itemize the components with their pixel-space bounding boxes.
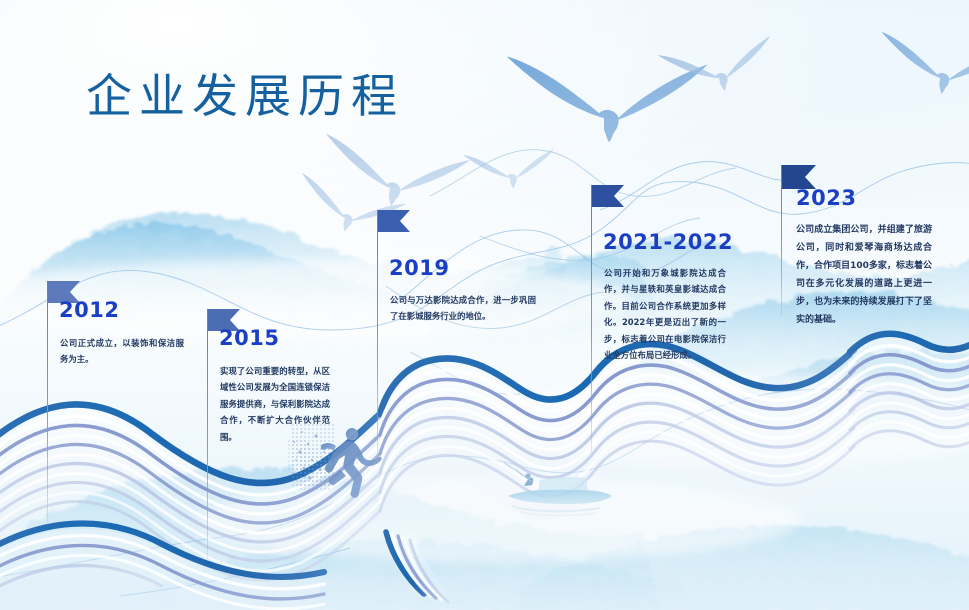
milestone-2012[interactable]: 2012 公司正式成立，以装饰和保洁服务为主。 [47,281,217,531]
mountain-bottom-right [520,526,969,610]
milestone-year: 2012 [59,298,119,322]
milestone-year: 2015 [219,326,279,350]
milestone-2019[interactable]: 2019 公司与万达影院达成合作，进一步巩固了在影城服务行业的地位。 [377,210,557,470]
page-title: 企业发展历程 [86,60,404,126]
bird-far-right [876,32,969,101]
milestone-description: 公司开始和万象城影院达成合作，并与星轶和英皇影城达成合作。目前公司合作系统更加多… [604,265,726,363]
boat-icon [504,462,612,516]
poster-canvas: 企业发展历程 [0,0,969,610]
bird-mid-left [317,134,471,216]
flag-icon [592,185,626,211]
flagpole [377,210,378,464]
milestone-description: 公司与万达影院达成合作，进一步巩固了在影城服务行业的地位。 [390,292,536,325]
milestone-year: 2019 [389,256,449,280]
milestone-description: 公司成立集团公司，并组建了旅游公司，同时和爱琴海商场达成合作，合作项目100多家… [796,221,932,329]
milestone-2023[interactable]: 2023 公司成立集团公司，并组建了旅游公司，同时和爱琴海商场达成合作，合作项目… [781,165,969,415]
flag-icon [378,210,412,236]
milestone-2015[interactable]: 2015 实现了公司重要的转型，从区域性公司发展为全国连锁保洁服务提供商，与保利… [207,309,377,559]
milestone-description: 实现了公司重要的转型，从区域性公司发展为全国连锁保洁服务提供商，与保利影院达成合… [220,363,330,445]
flagpole [47,281,48,525]
flagpole [207,309,208,559]
flagpole [591,185,592,453]
milestone-2021-2022[interactable]: 2021-2022 公司开始和万象城影院达成合作，并与星轶和英皇影城达成合作。目… [591,185,781,455]
milestone-description: 公司正式成立，以装饰和保洁服务为主。 [60,335,184,368]
bird-small [463,145,558,194]
mountain-bottom-mid [120,541,690,610]
milestone-year: 2021-2022 [603,230,733,254]
bird-top-right [658,32,780,103]
bird-large [507,56,708,142]
milestone-year: 2023 [796,186,856,210]
